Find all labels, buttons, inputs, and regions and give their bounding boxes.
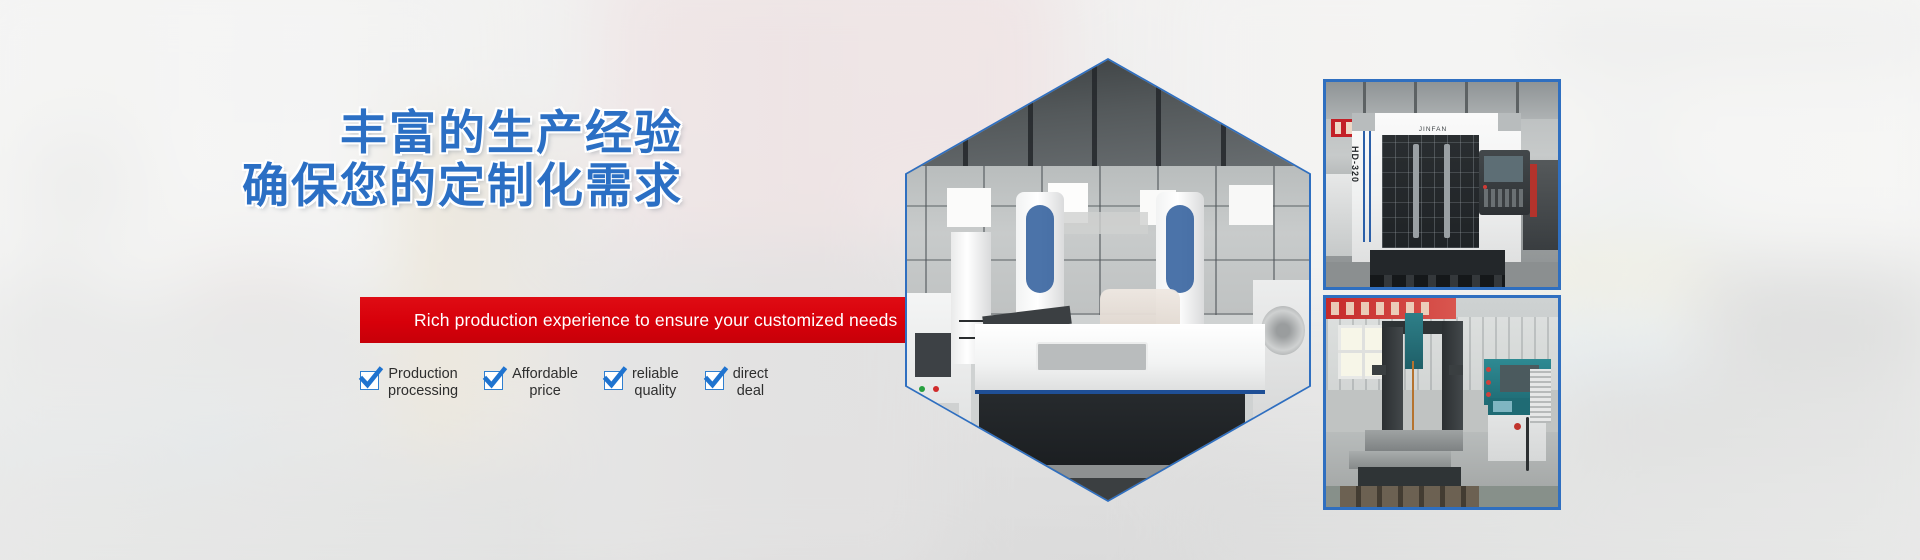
checkbox-checked-icon — [360, 371, 379, 390]
feature-label: Affordable price — [512, 366, 578, 400]
hexagon-image-clip — [907, 60, 1309, 500]
thumbnail-machining-center: HD-320 JINFAN — [1323, 79, 1561, 290]
headline: 丰富的生产经验 确保您的定制化需求 — [0, 108, 905, 214]
machine-brand-label: JINFAN — [1419, 126, 1447, 133]
checkbox-checked-icon — [705, 371, 724, 390]
feature-item: reliable quality — [604, 366, 679, 400]
tagline-text: Rich production experience to ensure you… — [360, 297, 907, 343]
feature-label: direct deal — [733, 366, 768, 400]
thumbnail-1-scene: HD-320 JINFAN — [1326, 82, 1558, 287]
feature-list: Production processing Affordable price r… — [360, 366, 905, 414]
thumbnail-boring-machine — [1323, 295, 1561, 510]
hexagon-machine-photo — [905, 58, 1311, 502]
feature-item: Affordable price — [484, 366, 578, 400]
checkbox-checked-icon — [604, 371, 623, 390]
thumbnail-2-scene — [1326, 298, 1558, 507]
feature-label: Production processing — [388, 366, 458, 400]
feature-label: reliable quality — [632, 366, 679, 400]
headline-line-2: 确保您的定制化需求 — [0, 161, 683, 214]
hexagon-scene — [907, 60, 1309, 500]
promo-banner: 丰富的生产经验 确保您的定制化需求 Rich production experi… — [0, 0, 1920, 560]
feature-item: Production processing — [360, 366, 458, 400]
checkbox-checked-icon — [484, 371, 503, 390]
machine-model-label: HD-320 — [1350, 146, 1360, 183]
headline-line-1: 丰富的生产经验 — [0, 108, 683, 161]
tagline-ribbon: Rich production experience to ensure you… — [360, 297, 907, 343]
feature-item: direct deal — [705, 366, 768, 400]
